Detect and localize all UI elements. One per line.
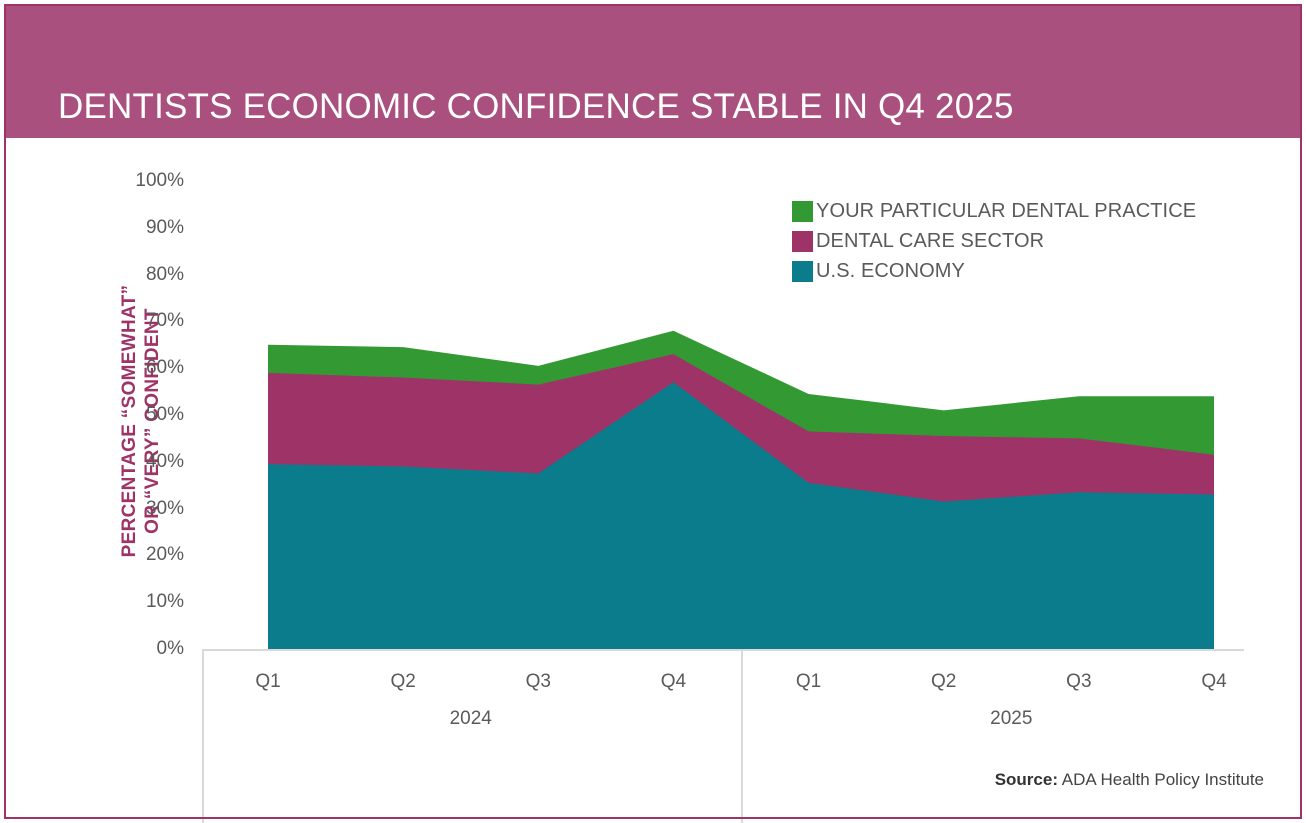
y-axis-tick: 90% <box>122 217 184 239</box>
x-axis-quarter-label: Q4 <box>1201 671 1226 693</box>
x-axis-quarter-label: Q4 <box>661 671 686 693</box>
y-axis-tick: 40% <box>122 451 184 473</box>
source-note: Source: ADA Health Policy Institute <box>995 770 1264 790</box>
y-axis-tick: 50% <box>122 404 184 426</box>
y-axis-tick: 30% <box>122 498 184 520</box>
x-axis-quarter-label: Q2 <box>931 671 956 693</box>
x-axis-quarter-label: Q3 <box>1066 671 1091 693</box>
legend-item[interactable]: YOUR PARTICULAR DENTAL PRACTICE <box>792 196 1222 226</box>
legend-swatch-icon <box>792 231 813 252</box>
y-axis-tick: 0% <box>122 638 184 660</box>
y-axis-tick: 60% <box>122 357 184 379</box>
source-label: Source: <box>995 770 1058 789</box>
page-title: DENTISTS ECONOMIC CONFIDENCE STABLE IN Q… <box>58 86 1014 128</box>
y-axis-tick: 10% <box>122 591 184 613</box>
y-axis-tick: 70% <box>122 310 184 332</box>
chart-legend: YOUR PARTICULAR DENTAL PRACTICEDENTAL CA… <box>792 196 1222 286</box>
x-axis-quarter-label: Q3 <box>526 671 551 693</box>
legend-swatch-icon <box>792 201 813 222</box>
source-value: ADA Health Policy Institute <box>1058 770 1264 789</box>
x-axis-year-label: 2024 <box>450 708 492 730</box>
legend-item-label: YOUR PARTICULAR DENTAL PRACTICE <box>816 200 1196 223</box>
legend-item[interactable]: DENTAL CARE SECTOR <box>792 226 1222 256</box>
x-axis: Q1Q2Q3Q4Q1Q2Q3Q4 20242025 <box>202 649 1244 823</box>
y-axis-tick: 100% <box>122 170 184 192</box>
header-banner: DENTISTS ECONOMIC CONFIDENCE STABLE IN Q… <box>6 6 1300 138</box>
x-axis-year-label: 2025 <box>990 708 1032 730</box>
x-axis-quarter-label: Q1 <box>255 671 280 693</box>
legend-item[interactable]: U.S. ECONOMY <box>792 256 1222 286</box>
chart-page: DENTISTS ECONOMIC CONFIDENCE STABLE IN Q… <box>0 0 1306 823</box>
y-axis-tick: 20% <box>122 544 184 566</box>
legend-item-label: DENTAL CARE SECTOR <box>816 230 1044 253</box>
x-axis-quarter-label: Q1 <box>796 671 821 693</box>
x-axis-quarter-label: Q2 <box>390 671 415 693</box>
legend-item-label: U.S. ECONOMY <box>816 260 965 283</box>
legend-swatch-icon <box>792 261 813 282</box>
y-axis-tick: 80% <box>122 264 184 286</box>
chart-canvas: PERCENTAGE “SOMEWHAT” OR “VERY” CONFIDEN… <box>6 140 1300 817</box>
x-axis-year-divider <box>741 649 743 823</box>
y-axis-tick-labels: 0%10%20%30%40%50%60%70%80%90%100% <box>122 181 184 649</box>
